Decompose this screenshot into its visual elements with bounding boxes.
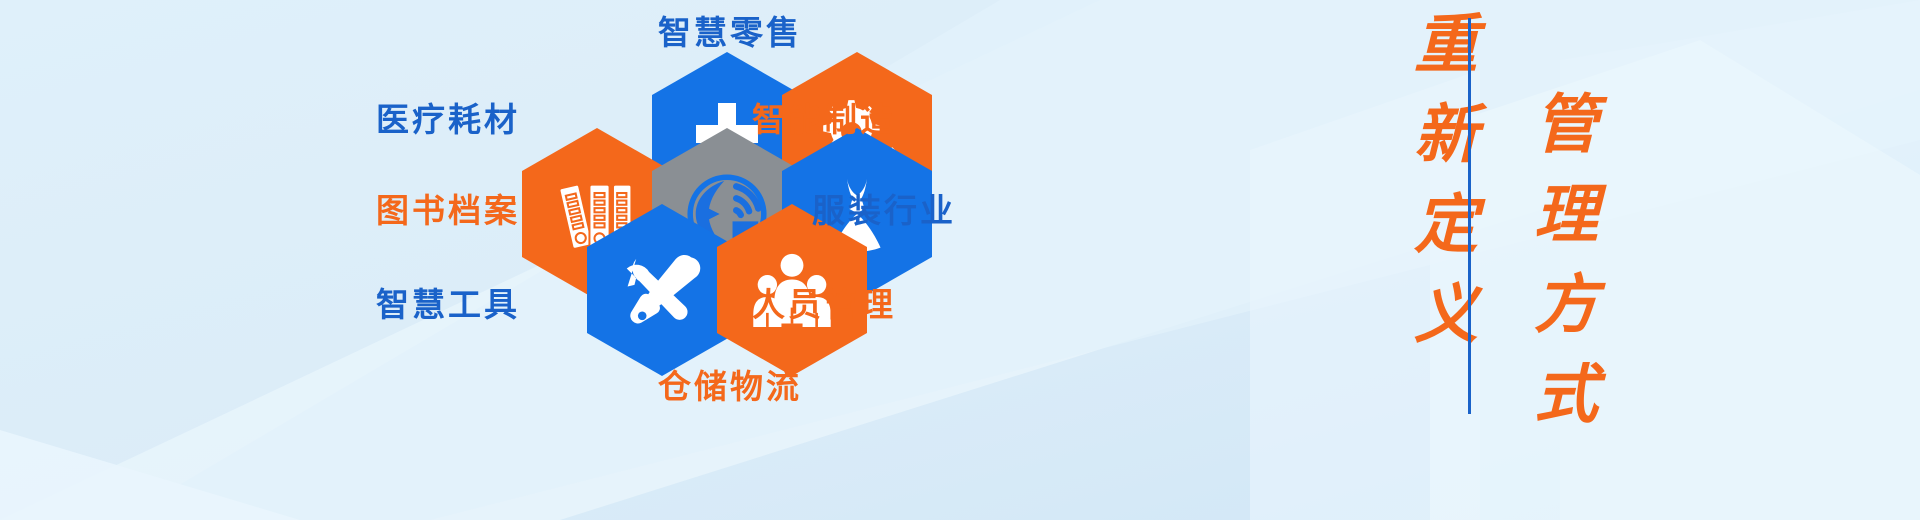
slogan-block: 重新定义 管理方式 [1300, 0, 1600, 520]
label-manufacturing: 智能制造 [752, 103, 1012, 136]
label-retail: 智慧零售 [560, 16, 900, 49]
label-logistics: 仓储物流 [560, 370, 900, 403]
label-medical: 医疗耗材 [320, 103, 520, 136]
label-tools: 智慧工具 [320, 288, 520, 321]
slogan-line-2: 管理方式 [1482, 90, 1592, 450]
label-apparel: 服装行业 [812, 194, 1072, 227]
slogan-line-1: 重新定义 [1362, 10, 1472, 370]
background-bands-svg [0, 0, 1920, 520]
label-people: 人员管理 [752, 288, 1012, 321]
wrench-screwdriver-icon [619, 247, 705, 333]
background-decoration [0, 0, 1920, 520]
label-archive: 图书档案 [280, 194, 520, 227]
slogan-divider [1468, 18, 1471, 414]
promo-banner: 智慧零售 医疗耗材 智能制造 图书档案 服装行业 智慧工具 人员管理 仓储物流 … [0, 0, 1920, 520]
